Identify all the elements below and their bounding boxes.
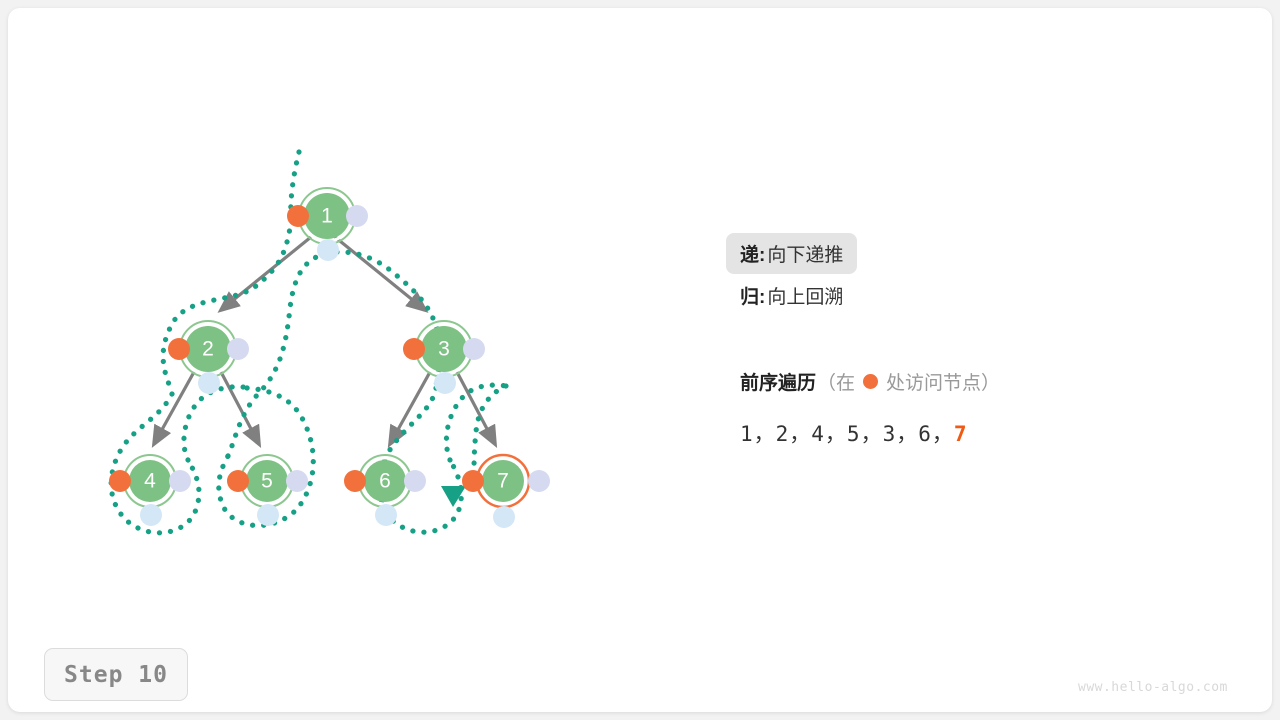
traversal-note-right: 处访问节点） (886, 368, 1000, 395)
node-5-bottom-dot-icon (257, 504, 279, 526)
node-5-right-dot-icon (286, 470, 308, 492)
node-2-right-dot-icon (227, 338, 249, 360)
orange-circle-icon (863, 374, 878, 389)
node-6-bottom-dot-icon (375, 504, 397, 526)
traversal-sequence-prefix: 1，2，4，5，3，6， (740, 422, 954, 446)
node-5-visit-dot-icon (227, 470, 249, 492)
legend-recurse-key: 递: (740, 240, 765, 267)
tree-node-1[interactable]: 1 (287, 188, 368, 261)
traversal-order-panel: 前序遍历 （在 处访问节点） 1，2，4，5，3，6，7 (740, 368, 1200, 448)
tree-node-7[interactable]: 7 (462, 455, 550, 528)
edge-2-4 (154, 372, 194, 444)
node-1-visit-dot-icon (287, 205, 309, 227)
diagram-card: 1 2 3 (8, 8, 1272, 712)
step-badge-label: Step 10 (64, 662, 168, 688)
node-7-visit-dot-icon (462, 470, 484, 492)
node-4-label: 4 (144, 470, 156, 493)
node-4-visit-dot-icon (109, 470, 131, 492)
node-3-label: 3 (438, 338, 450, 361)
watermark: www.hello-algo.com (1078, 680, 1228, 695)
edge-1-2 (221, 237, 311, 310)
path-segment-6-back-to-3 (446, 385, 506, 460)
node-4-bottom-dot-icon (140, 504, 162, 526)
legend-pill-recurse: 递: 向下递推 (726, 233, 857, 274)
edge-1-3 (335, 237, 425, 310)
legend-panel: 递: 向下递推 归: 向上回溯 (726, 232, 1146, 316)
legend-backtrack-key: 归: (740, 282, 765, 309)
node-6-right-dot-icon (404, 470, 426, 492)
tree-node-5[interactable]: 5 (227, 455, 308, 526)
node-5-label: 5 (261, 470, 273, 493)
edge-3-7 (457, 372, 495, 444)
step-badge: Step 10 (44, 648, 188, 701)
app-root: 1 2 3 (0, 0, 1280, 720)
node-1-label: 1 (321, 205, 333, 228)
node-2-visit-dot-icon (168, 338, 190, 360)
tree-node-3[interactable]: 3 (403, 321, 485, 394)
node-1-bottom-dot-icon (317, 239, 339, 261)
node-7-right-dot-icon (528, 470, 550, 492)
traversal-sequence-current: 7 (954, 422, 968, 446)
tree-node-6[interactable]: 6 (344, 455, 426, 526)
node-3-visit-dot-icon (403, 338, 425, 360)
node-4-right-dot-icon (169, 470, 191, 492)
traversal-title: 前序遍历 (740, 368, 816, 395)
legend-plain-backtrack: 归: 向上回溯 (726, 275, 857, 316)
legend-recurse-value: 向下递推 (767, 240, 843, 267)
traversal-note-left: （在 (817, 368, 855, 395)
node-6-visit-dot-icon (344, 470, 366, 492)
node-1-right-dot-icon (346, 205, 368, 227)
node-2-label: 2 (202, 338, 214, 361)
legend-row-backtrack: 归: 向上回溯 (726, 274, 1146, 316)
traversal-title-row: 前序遍历 （在 处访问节点） (740, 368, 1200, 395)
traversal-sequence: 1，2，4，5，3，6，7 (740, 418, 1200, 448)
node-6-label: 6 (379, 470, 391, 493)
legend-row-recurse: 递: 向下递推 (726, 232, 1146, 274)
node-7-bottom-dot-icon (493, 506, 515, 528)
node-7-label: 7 (497, 470, 509, 493)
recursion-tree-diagram: 1 2 3 (8, 8, 1272, 712)
edge-2-5 (221, 372, 259, 444)
node-3-bottom-dot-icon (434, 372, 456, 394)
legend-backtrack-value: 向上回溯 (767, 282, 843, 309)
tree-node-2[interactable]: 2 (168, 321, 249, 394)
node-2-bottom-dot-icon (198, 372, 220, 394)
node-3-right-dot-icon (463, 338, 485, 360)
